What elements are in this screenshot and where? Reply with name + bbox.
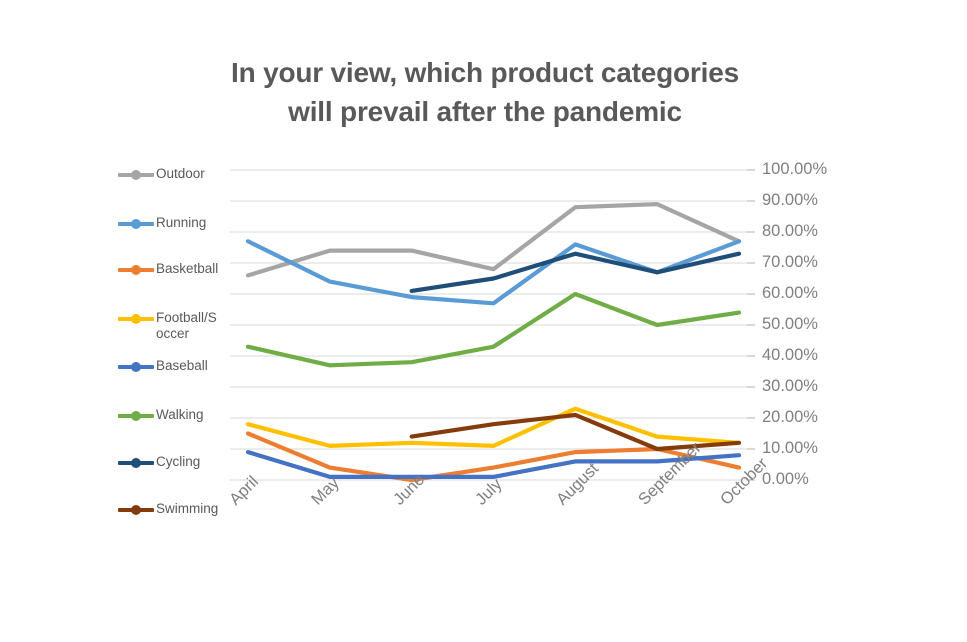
- series-line-outdoor: [248, 204, 739, 275]
- legend-item-swimming[interactable]: Swimming: [118, 501, 218, 523]
- y-axis-label: 20.00%: [762, 408, 818, 427]
- y-axis-label: 70.00%: [762, 253, 818, 272]
- y-axis-label: 100.00%: [762, 160, 827, 179]
- legend-swatch-icon: [118, 408, 154, 424]
- legend-item-cycling[interactable]: Cycling: [118, 454, 200, 476]
- legend-label: Basketball: [154, 261, 218, 277]
- legend-label: Baseball: [154, 358, 208, 374]
- chart-container: In your view, which product categories w…: [0, 0, 967, 642]
- legend-swatch-icon: [118, 216, 154, 232]
- y-axis-label: 0.00%: [762, 470, 809, 489]
- y-axis-label: 30.00%: [762, 377, 818, 396]
- chart-legend: OutdoorRunningBasketballFootball/S occer…: [118, 160, 242, 520]
- series-lines: [248, 204, 739, 480]
- y-axis-label: 50.00%: [762, 315, 818, 334]
- y-axis-label: 60.00%: [762, 284, 818, 303]
- legend-label: Outdoor: [154, 166, 205, 182]
- legend-label: Football/S occer: [154, 310, 217, 342]
- legend-label: Walking: [154, 407, 204, 423]
- legend-swatch-icon: [118, 359, 154, 375]
- legend-swatch-icon: [118, 502, 154, 518]
- legend-label: Swimming: [154, 501, 218, 517]
- legend-item-walking[interactable]: Walking: [118, 407, 204, 429]
- legend-item-basketball[interactable]: Basketball: [118, 261, 218, 283]
- legend-swatch-icon: [118, 455, 154, 471]
- legend-swatch-icon: [118, 311, 154, 327]
- legend-item-running[interactable]: Running: [118, 215, 206, 237]
- legend-item-football-s-occer[interactable]: Football/S occer: [118, 310, 217, 332]
- legend-swatch-icon: [118, 262, 154, 278]
- y-axis-label: 10.00%: [762, 439, 818, 458]
- legend-item-baseball[interactable]: Baseball: [118, 358, 208, 380]
- legend-label: Cycling: [154, 454, 200, 470]
- y-axis-ticks: [747, 170, 755, 480]
- y-axis-label: 80.00%: [762, 222, 818, 241]
- legend-swatch-icon: [118, 167, 154, 183]
- legend-item-outdoor[interactable]: Outdoor: [118, 166, 205, 188]
- y-axis-label: 40.00%: [762, 346, 818, 365]
- legend-label: Running: [154, 215, 206, 231]
- y-axis-label: 90.00%: [762, 191, 818, 210]
- series-line-football-soccer: [248, 409, 739, 446]
